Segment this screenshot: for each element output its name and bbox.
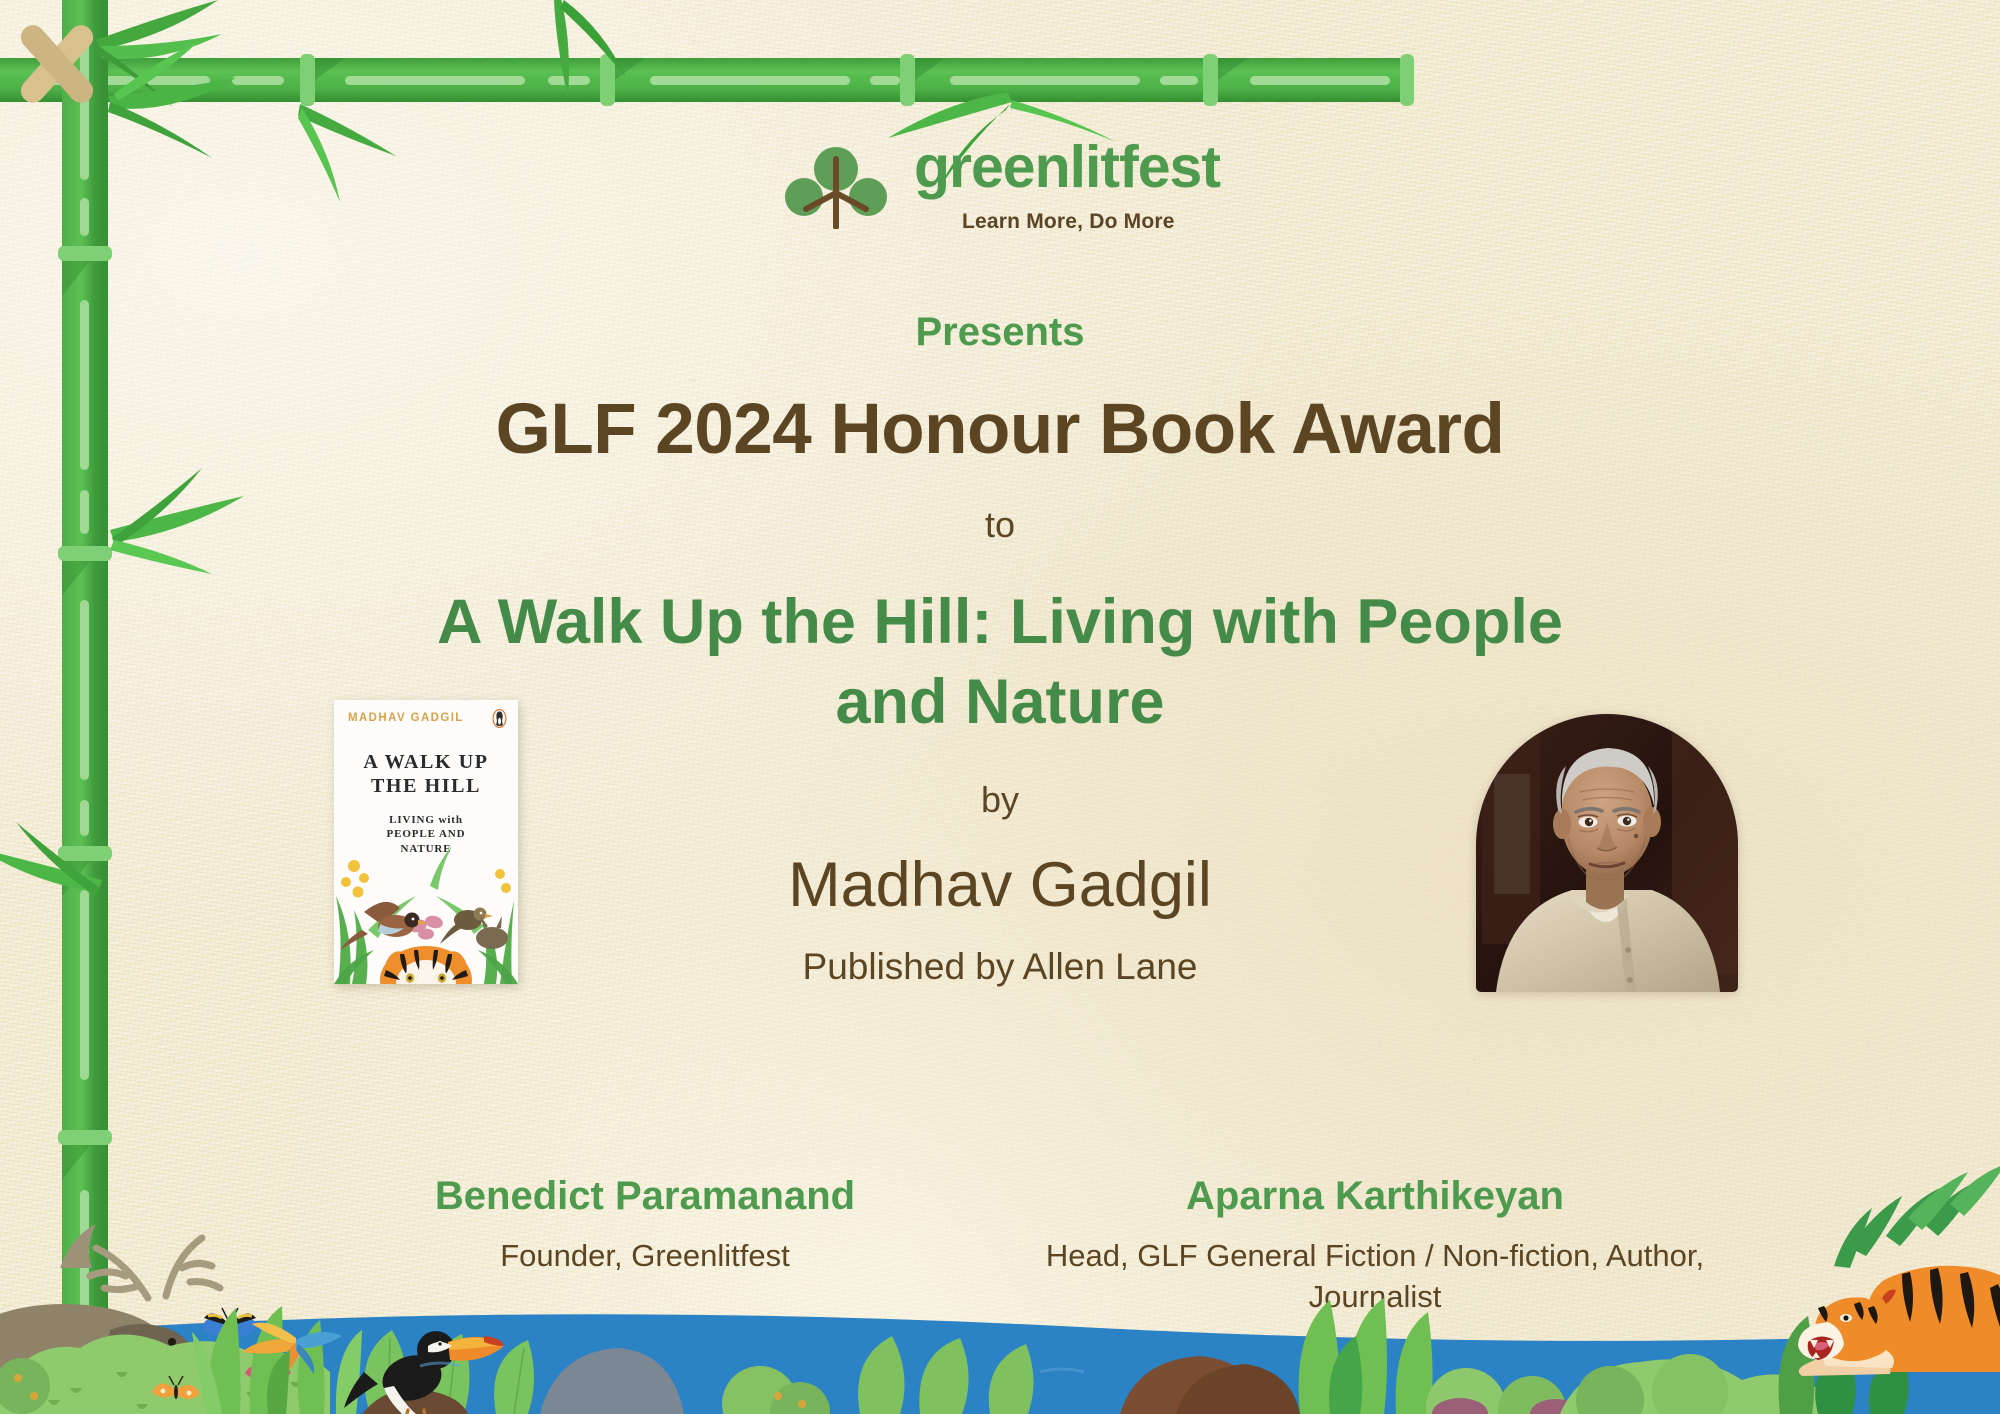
bush-group-left — [0, 1334, 330, 1414]
credit-benedict: Benedict Paramanand Founder, Greenlitfes… — [280, 1172, 1010, 1318]
tree-icon — [780, 143, 892, 229]
book-cover-artwork — [334, 834, 518, 984]
book-cover-title: A WALK UP THE HILL — [334, 750, 518, 799]
author-portrait — [1476, 714, 1738, 992]
brand-wordmark: greenlitfest — [914, 138, 1220, 197]
penguin-logo-icon — [492, 709, 507, 728]
tropical-plants-left — [192, 1306, 534, 1414]
award-title: GLF 2024 Honour Book Award — [300, 393, 1700, 468]
credit-aparna: Aparna Karthikeyan Head, GLF General Fic… — [1010, 1172, 1740, 1318]
credit-name: Aparna Karthikeyan — [1010, 1172, 1740, 1220]
tiger-icon — [1798, 1164, 2000, 1376]
presents-label: Presents — [300, 310, 1700, 355]
book-cover-author: MADHAV GADGIL — [348, 712, 464, 724]
tiger-illustration — [380, 946, 472, 984]
rope-tie-icon — [16, 20, 98, 107]
connector-to: to — [300, 504, 1700, 546]
book-cover-image: MADHAV GADGIL A WALK UP THE HILL LIVING … — [334, 700, 518, 984]
credit-role: Founder, Greenlitfest — [280, 1236, 1010, 1277]
credits-row: Benedict Paramanand Founder, Greenlitfes… — [280, 1172, 1740, 1318]
credit-name: Benedict Paramanand — [280, 1172, 1010, 1220]
bird-illustration — [340, 902, 427, 950]
bush-group-right — [1560, 1316, 1909, 1414]
brand-tagline: Learn More, Do More — [962, 210, 1175, 234]
credit-role: Head, GLF General Fiction / Non-fiction,… — [1010, 1236, 1740, 1318]
madhav-gadgil-portrait — [1476, 714, 1738, 992]
brand-logo: greenlitfest Learn More, Do More — [0, 138, 2000, 234]
toucan-icon — [344, 1331, 504, 1414]
butterfly-icon — [152, 1308, 291, 1399]
bamboo-horizontal-stalk — [0, 54, 1414, 106]
elk-icon — [0, 1224, 220, 1400]
award-certificate-slide: greenlitfest Learn More, Do More Present… — [0, 0, 2000, 1414]
